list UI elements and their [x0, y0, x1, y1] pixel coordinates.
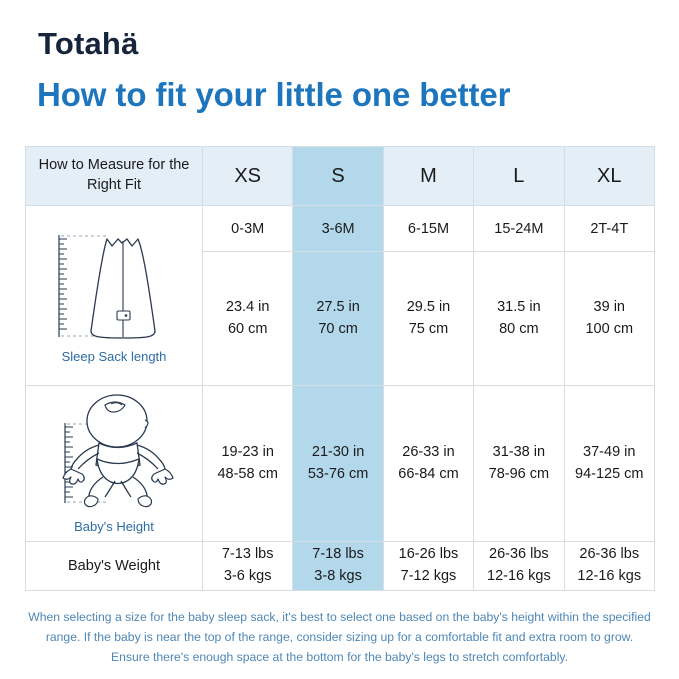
sleep-sack-length-m: 29.5 in 75 cm	[383, 252, 473, 386]
value-cm: 100 cm	[565, 319, 654, 341]
babys-weight-xl: 26-36 lbs 12-16 kgs	[564, 542, 654, 591]
sleep-sack-icon	[39, 227, 189, 345]
value-cm: 94-125 cm	[565, 464, 654, 486]
babys-weight-s: 7-18 lbs 3-8 kgs	[293, 542, 383, 591]
babys-height-xs: 19-23 in 48-58 cm	[203, 386, 293, 542]
column-header-xs[interactable]: XS	[203, 147, 293, 206]
size-chart-table: How to Measure for the Right Fit XS S M …	[25, 146, 655, 591]
value-inches: 23.4 in	[203, 297, 292, 319]
age-value-m: 6-15M	[383, 206, 473, 252]
age-value-s: 3-6M	[293, 206, 383, 252]
column-header-m[interactable]: M	[383, 147, 473, 206]
value-inches: 27.5 in	[293, 297, 382, 319]
value-cm: 80 cm	[474, 319, 563, 341]
value-inches: 39 in	[565, 297, 654, 319]
babys-height-caption: Baby's Height	[74, 519, 154, 534]
column-header-xl[interactable]: XL	[564, 147, 654, 206]
value-lbs: 16-26 lbs	[384, 544, 473, 566]
column-header-s[interactable]: S	[293, 147, 383, 206]
value-inches: 31-38 in	[474, 442, 563, 464]
value-lbs: 26-36 lbs	[474, 544, 563, 566]
sleep-sack-length-s: 27.5 in 70 cm	[293, 252, 383, 386]
babys-height-s: 21-30 in 53-76 cm	[293, 386, 383, 542]
column-header-l[interactable]: L	[474, 147, 564, 206]
column-header-measure-label: How to Measure for the Right Fit	[26, 147, 203, 206]
age-value-xl: 2T-4T	[564, 206, 654, 252]
age-value-xs: 0-3M	[203, 206, 293, 252]
value-lbs: 7-18 lbs	[293, 544, 382, 566]
baby-icon	[39, 393, 189, 515]
value-inches: 37-49 in	[565, 442, 654, 464]
value-inches: 31.5 in	[474, 297, 563, 319]
value-inches: 26-33 in	[384, 442, 473, 464]
value-cm: 78-96 cm	[474, 464, 563, 486]
sleep-sack-length-xl: 39 in 100 cm	[564, 252, 654, 386]
value-cm: 70 cm	[293, 319, 382, 341]
babys-height-xl: 37-49 in 94-125 cm	[564, 386, 654, 542]
age-value-l: 15-24M	[474, 206, 564, 252]
value-kgs: 3-6 kgs	[203, 566, 292, 588]
table-row-babys-weight: Baby's Weight 7-13 lbs 3-6 kgs 7-18 lbs …	[26, 542, 655, 591]
babys-height-m: 26-33 in 66-84 cm	[383, 386, 473, 542]
row-label-babys-height: Baby's Height	[26, 386, 203, 542]
table-row-babys-height: Baby's Height 19-23 in 48-58 cm 21-30 in…	[26, 386, 655, 542]
value-kgs: 12-16 kgs	[565, 566, 654, 588]
page-title: How to fit your little one better	[37, 76, 510, 114]
value-cm: 53-76 cm	[293, 464, 382, 486]
value-inches: 19-23 in	[203, 442, 292, 464]
table-row-age: Sleep Sack length 0-3M 3-6M 6-15M 15-24M…	[26, 206, 655, 252]
babys-height-l: 31-38 in 78-96 cm	[474, 386, 564, 542]
sleep-sack-length-caption: Sleep Sack length	[62, 349, 167, 364]
value-lbs: 7-13 lbs	[203, 544, 292, 566]
value-cm: 48-58 cm	[203, 464, 292, 486]
row-label-sleep-sack-length: Sleep Sack length	[26, 206, 203, 386]
value-kgs: 3-8 kgs	[293, 566, 382, 588]
babys-weight-l: 26-36 lbs 12-16 kgs	[474, 542, 564, 591]
table-header-row: How to Measure for the Right Fit XS S M …	[26, 147, 655, 206]
row-label-babys-weight: Baby's Weight	[26, 542, 203, 591]
value-cm: 60 cm	[203, 319, 292, 341]
value-kgs: 12-16 kgs	[474, 566, 563, 588]
value-kgs: 7-12 kgs	[384, 566, 473, 588]
fit-guidance-note: When selecting a size for the baby sleep…	[25, 608, 654, 667]
brand-logo: Totahä	[38, 28, 139, 59]
babys-weight-m: 16-26 lbs 7-12 kgs	[383, 542, 473, 591]
sleep-sack-length-l: 31.5 in 80 cm	[474, 252, 564, 386]
babys-weight-xs: 7-13 lbs 3-6 kgs	[203, 542, 293, 591]
value-cm: 66-84 cm	[384, 464, 473, 486]
value-lbs: 26-36 lbs	[565, 544, 654, 566]
value-inches: 29.5 in	[384, 297, 473, 319]
size-chart-page: Totahä How to fit your little one better…	[0, 0, 679, 679]
sleep-sack-length-xs: 23.4 in 60 cm	[203, 252, 293, 386]
value-cm: 75 cm	[384, 319, 473, 341]
value-inches: 21-30 in	[293, 442, 382, 464]
